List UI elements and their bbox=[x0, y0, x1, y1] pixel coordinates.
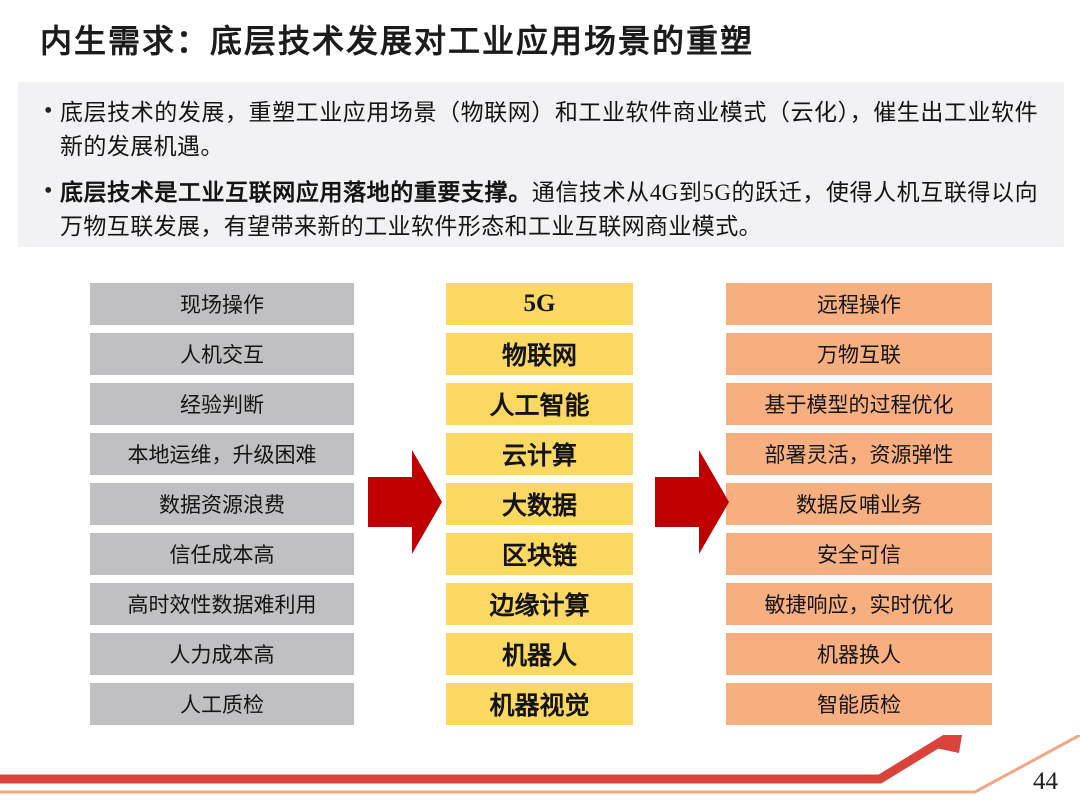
column-technologies: 5G 物联网 人工智能 云计算 大数据 区块链 边缘计算 机器人 机器视觉 bbox=[446, 283, 633, 725]
technology-box: 大数据 bbox=[446, 483, 633, 525]
technology-box: 机器视觉 bbox=[446, 683, 633, 725]
right-arrow-icon bbox=[655, 450, 729, 554]
technology-box: 边缘计算 bbox=[446, 583, 633, 625]
outcome-box: 基于模型的过程优化 bbox=[726, 383, 992, 425]
bullet-marker-icon: • bbox=[44, 96, 60, 126]
outcome-box: 智能质检 bbox=[726, 683, 992, 725]
bullet-text: 底层技术是工业互联网应用落地的重要支撑。通信技术从4G到5G的跃迁，使得人机互联… bbox=[60, 176, 1038, 244]
bullet-item: • 底层技术的发展，重塑工业应用场景（物联网）和工业软件商业模式（云化），催生出… bbox=[44, 96, 1038, 164]
bullet-rest-text: 底层技术的发展，重塑工业应用场景（物联网）和工业软件商业模式（云化），催生出工业… bbox=[60, 100, 1038, 159]
outcome-box: 安全可信 bbox=[726, 533, 992, 575]
footer-decoration bbox=[0, 735, 1080, 809]
pain-point-box: 本地运维，升级困难 bbox=[90, 433, 354, 475]
bullet-text: 底层技术的发展，重塑工业应用场景（物联网）和工业软件商业模式（云化），催生出工业… bbox=[60, 96, 1038, 164]
bullet-item: • 底层技术是工业互联网应用落地的重要支撑。通信技术从4G到5G的跃迁，使得人机… bbox=[44, 176, 1038, 244]
outcome-box: 远程操作 bbox=[726, 283, 992, 325]
right-arrow-icon bbox=[368, 450, 442, 554]
technology-box: 人工智能 bbox=[446, 383, 633, 425]
pain-point-box: 人力成本高 bbox=[90, 633, 354, 675]
outcome-box: 数据反哺业务 bbox=[726, 483, 992, 525]
pain-point-box: 数据资源浪费 bbox=[90, 483, 354, 525]
column-outcomes: 远程操作 万物互联 基于模型的过程优化 部署灵活，资源弹性 数据反哺业务 安全可… bbox=[726, 283, 992, 725]
pain-point-box: 现场操作 bbox=[90, 283, 354, 325]
technology-box: 5G bbox=[446, 283, 633, 325]
outcome-box: 万物互联 bbox=[726, 333, 992, 375]
pain-point-box: 经验判断 bbox=[90, 383, 354, 425]
summary-panel: • 底层技术的发展，重塑工业应用场景（物联网）和工业软件商业模式（云化），催生出… bbox=[18, 82, 1064, 247]
bullet-marker-icon: • bbox=[44, 176, 60, 206]
slide-title-bar: 内生需求：底层技术发展对工业应用场景的重塑 bbox=[18, 8, 1068, 70]
technology-box: 机器人 bbox=[446, 633, 633, 675]
technology-box: 区块链 bbox=[446, 533, 633, 575]
bullet-lead-text: 底层技术是工业互联网应用落地的重要支撑。 bbox=[60, 180, 532, 205]
pain-point-box: 信任成本高 bbox=[90, 533, 354, 575]
technology-box: 云计算 bbox=[446, 433, 633, 475]
pain-point-box: 高时效性数据难利用 bbox=[90, 583, 354, 625]
outcome-box: 敏捷响应，实时优化 bbox=[726, 583, 992, 625]
slide: 内生需求：底层技术发展对工业应用场景的重塑 • 底层技术的发展，重塑工业应用场景… bbox=[0, 0, 1080, 809]
page-number: 44 bbox=[1033, 768, 1058, 796]
outcome-box: 部署灵活，资源弹性 bbox=[726, 433, 992, 475]
column-pain-points: 现场操作 人机交互 经验判断 本地运维，升级困难 数据资源浪费 信任成本高 高时… bbox=[90, 283, 354, 725]
pain-point-box: 人工质检 bbox=[90, 683, 354, 725]
technology-box: 物联网 bbox=[446, 333, 633, 375]
pain-point-box: 人机交互 bbox=[90, 333, 354, 375]
page-title: 内生需求：底层技术发展对工业应用场景的重塑 bbox=[40, 16, 754, 62]
outcome-box: 机器换人 bbox=[726, 633, 992, 675]
